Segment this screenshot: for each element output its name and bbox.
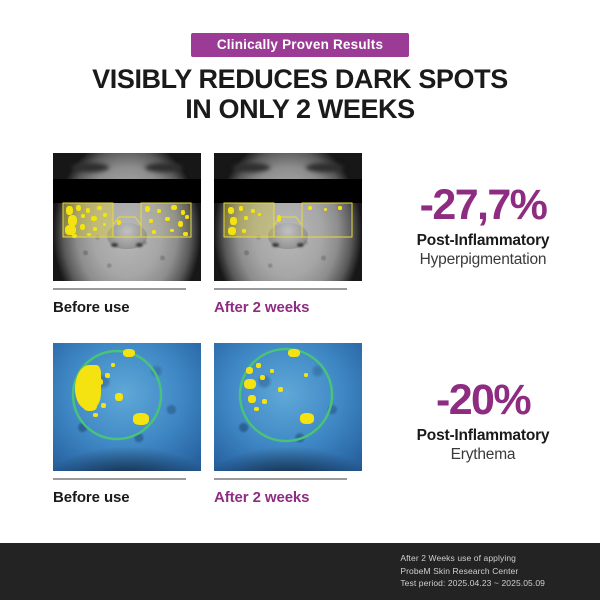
caption-pair: Before use After 2 weeks	[53, 478, 363, 506]
before-photo-pie	[53, 343, 201, 471]
dark-spot-speckles	[214, 153, 362, 281]
erythema-blobs	[214, 343, 362, 471]
stat-label-primary: Post-Inflammatory	[374, 231, 592, 250]
footer-disclaimer: After 2 Weeks use of applying ProbeM Ski…	[400, 552, 545, 590]
status-badge: Clinically Proven Results	[191, 33, 409, 57]
footer-line-3: Test period: 2025.04.23 ~ 2025.05.09	[400, 577, 545, 590]
caption-label: Before use	[53, 299, 201, 316]
stat-label-primary: Post-Inflammatory	[374, 426, 592, 445]
divider	[53, 288, 186, 290]
comparison-row-pie: Before use After 2 weeks	[53, 343, 363, 506]
stat-label-secondary: Hyperpigmentation	[374, 250, 592, 269]
caption-before-pih: Before use	[53, 288, 201, 316]
stat-block-pih: -27,7% Post-Inflammatory Hyperpigmentati…	[374, 182, 592, 269]
footer-bar: After 2 Weeks use of applying ProbeM Ski…	[0, 543, 600, 600]
headline-line-1: VISIBLY REDUCES DARK SPOTS	[0, 64, 600, 94]
divider	[214, 478, 347, 480]
stat-block-pie: -20% Post-Inflammatory Erythema	[374, 377, 592, 464]
after-photo-pie	[214, 343, 362, 471]
footer-line-1: After 2 Weeks use of applying	[400, 552, 545, 565]
caption-label: After 2 weeks	[214, 299, 362, 316]
stat-label-secondary: Erythema	[374, 445, 592, 464]
before-photo-pih	[53, 153, 201, 281]
footer-line-2: ProbeM Skin Research Center	[400, 565, 545, 578]
caption-after-pie: After 2 weeks	[214, 478, 362, 506]
caption-label: After 2 weeks	[214, 489, 362, 506]
divider	[214, 288, 347, 290]
comparison-row-pih: Before use After 2 weeks	[53, 153, 363, 316]
headline-line-2: IN ONLY 2 WEEKS	[0, 94, 600, 124]
badge-row: Clinically Proven Results	[0, 33, 600, 57]
image-pair	[53, 343, 363, 471]
erythema-blobs	[53, 343, 201, 471]
stat-value: -20%	[374, 377, 592, 423]
caption-after-pih: After 2 weeks	[214, 288, 362, 316]
divider	[53, 478, 186, 480]
stat-value: -27,7%	[374, 182, 592, 228]
caption-label: Before use	[53, 489, 201, 506]
caption-before-pie: Before use	[53, 478, 201, 506]
after-photo-pih	[214, 153, 362, 281]
caption-pair: Before use After 2 weeks	[53, 288, 363, 316]
dark-spot-speckles	[53, 153, 201, 281]
image-pair	[53, 153, 363, 281]
page-title: VISIBLY REDUCES DARK SPOTS IN ONLY 2 WEE…	[0, 64, 600, 124]
